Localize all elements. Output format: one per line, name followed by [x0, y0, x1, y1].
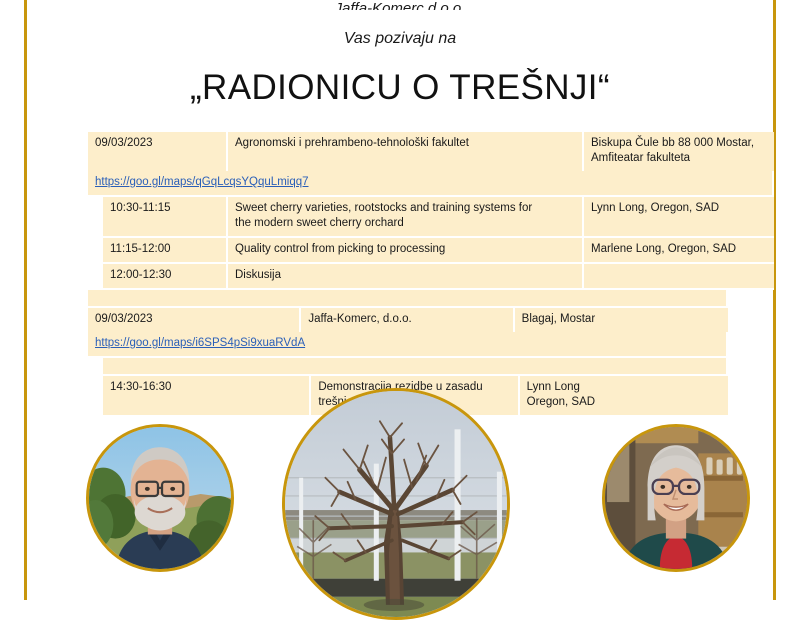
table-spacer — [103, 358, 728, 376]
block1-venue: Agronomski i prehrambeno-tehnološki faku… — [228, 132, 584, 171]
block1-date: 09/03/2023 — [88, 132, 228, 171]
block1-map-link-cell[interactable]: https://goo.gl/maps/qGqLcqsYQquLmiqq7 — [88, 171, 774, 197]
table-row: 09/03/2023 Agronomski i prehrambeno-tehn… — [88, 132, 774, 171]
block1-address-line1: Biskupa Čule bb 88 000 Mostar, — [591, 137, 754, 149]
block2-map-link-cell[interactable]: https://goo.gl/maps/i6SPS4pSi9xuaRVdA — [88, 332, 728, 358]
schedule-block-1-venue: 09/03/2023 Agronomski i prehrambeno-tehn… — [88, 132, 774, 197]
block2-date: 09/03/2023 — [88, 308, 301, 332]
page-title: „RADIONICU O TREŠNJI“ — [24, 66, 776, 110]
header: Jaffa-Komerc d.o.o. Vas pozivaju na „RAD… — [24, 0, 776, 110]
session-presenter: Marlene Long, Oregon, SAD — [584, 238, 774, 264]
session-presenter: Lynn Long, Oregon, SAD — [584, 197, 774, 238]
organizer-line: Jaffa-Komerc d.o.o. — [24, 0, 776, 10]
portrait-marlene-long-alt: Portrait of a woman with gray hair and g… — [605, 569, 606, 570]
table-row: 10:30-11:15 Sweet cherry varieties, root… — [103, 197, 774, 238]
cherry-orchard-alt: Bare pruned cherry tree in an orchard wi… — [285, 617, 286, 618]
portrait-marlene-long: Portrait of a woman with gray hair and g… — [602, 424, 750, 572]
block2-map-link[interactable]: https://goo.gl/maps/i6SPS4pSi9xuaRVdA — [95, 337, 305, 349]
schedule-block-2-venue: 09/03/2023 Jaffa-Komerc, d.o.o. Blagaj, … — [88, 290, 728, 358]
cherry-orchard-image — [285, 391, 507, 617]
table-row: 12:00-12:30 Diskusija — [103, 264, 774, 290]
session-time: 10:30-11:15 — [103, 197, 228, 238]
block1-address-line2: Amfiteatar fakulteta — [591, 152, 690, 164]
portrait-marlene-long-image — [605, 427, 747, 569]
session-topic: Quality control from picking to processi… — [228, 238, 584, 264]
session-topic: Diskusija — [228, 264, 584, 290]
cherry-orchard-photo: Bare pruned cherry tree in an orchard wi… — [282, 388, 510, 620]
session-topic-line1: Sweet cherry varieties, rootstocks and t… — [235, 202, 532, 214]
session-presenter — [584, 264, 774, 290]
block2-location: Blagaj, Mostar — [515, 308, 728, 332]
portrait-lynn-long: Portrait of an older man with gray beard… — [86, 424, 234, 572]
table-row: 09/03/2023 Jaffa-Komerc, d.o.o. Blagaj, … — [88, 308, 728, 332]
session-time: 11:15-12:00 — [103, 238, 228, 264]
table-row: 11:15-12:00 Quality control from picking… — [103, 238, 774, 264]
invitation-line: Vas pozivaju na — [24, 28, 776, 50]
schedule-section: 09/03/2023 Agronomski i prehrambeno-tehn… — [88, 132, 728, 415]
session-topic: Sweet cherry varieties, rootstocks and t… — [228, 197, 584, 238]
portrait-lynn-long-alt: Portrait of an older man with gray beard… — [89, 569, 90, 570]
table-spacer — [88, 290, 728, 308]
block2-venue: Jaffa-Komerc, d.o.o. — [301, 308, 514, 332]
block1-address: Biskupa Čule bb 88 000 Mostar, Amfiteata… — [584, 132, 774, 171]
table-row: https://goo.gl/maps/qGqLcqsYQquLmiqq7 — [88, 171, 774, 197]
session-time: 12:00-12:30 — [103, 264, 228, 290]
table-row: https://goo.gl/maps/i6SPS4pSi9xuaRVdA — [88, 332, 728, 358]
portrait-lynn-long-image — [89, 427, 231, 569]
photo-gallery: Portrait of an older man with gray beard… — [24, 380, 776, 600]
schedule-block-1-sessions: 10:30-11:15 Sweet cherry varieties, root… — [88, 197, 774, 290]
block1-map-link[interactable]: https://goo.gl/maps/qGqLcqsYQquLmiqq7 — [95, 176, 309, 188]
session-topic-line2: the modern sweet cherry orchard — [235, 217, 404, 229]
